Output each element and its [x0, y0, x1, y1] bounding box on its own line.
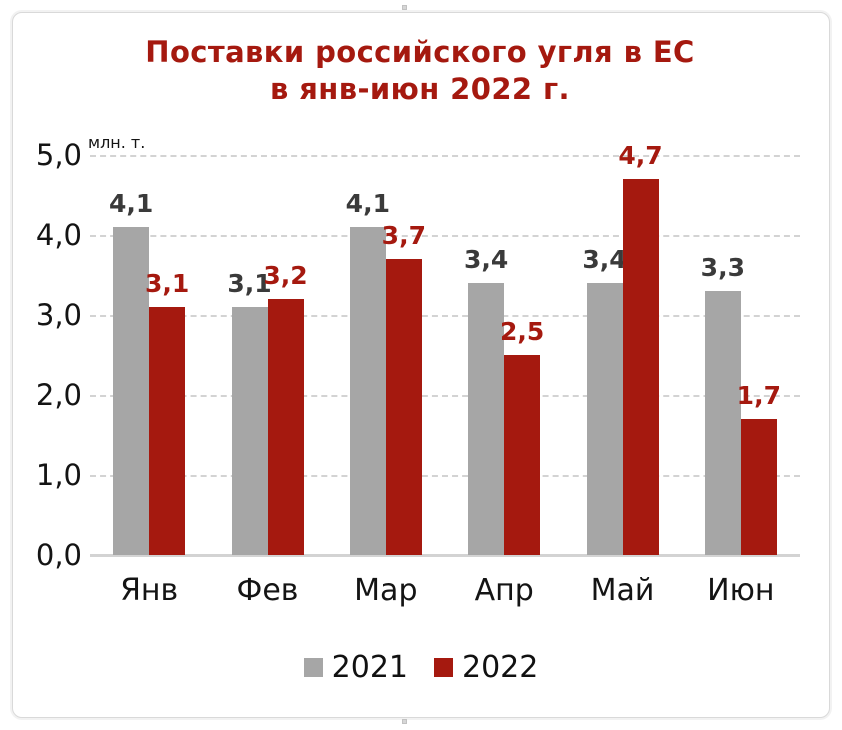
gridline [90, 155, 800, 157]
bar-2021-Июн[interactable] [705, 291, 741, 555]
bar-2021-Фев[interactable] [232, 307, 268, 555]
bar-2022-Апр[interactable] [504, 355, 540, 555]
bar-2022-Май[interactable] [623, 179, 659, 555]
bar-2021-Май[interactable] [587, 283, 623, 555]
bar-value-label-2021-Июн: 3,3 [701, 253, 745, 282]
bar-2021-Мар[interactable] [350, 227, 386, 555]
legend-item-2022[interactable]: 2022 [434, 650, 538, 685]
gridline [90, 235, 800, 237]
bar-value-label-2022-Янв: 3,1 [145, 269, 189, 298]
legend-label-2021: 2021 [332, 650, 408, 685]
axis-baseline [90, 554, 800, 557]
bar-2021-Янв[interactable] [113, 227, 149, 555]
bar-2021-Апр[interactable] [468, 283, 504, 555]
chart-legend: 20212022 [0, 650, 842, 685]
x-axis-label-Май: Май [591, 573, 655, 608]
plot-area: 0,01,02,03,04,05,0 млн. т. 4,13,13,13,24… [0, 0, 842, 730]
bar-2022-Мар[interactable] [386, 259, 422, 555]
bar-value-label-2022-Июн: 1,7 [737, 381, 781, 410]
y-axis-tick-2,0: 2,0 [18, 378, 82, 412]
bar-value-label-2022-Апр: 2,5 [500, 317, 544, 346]
bar-value-label-2021-Апр: 3,4 [464, 245, 508, 274]
gridline [90, 315, 800, 317]
x-axis-label-Фев: Фев [237, 573, 299, 608]
y-axis-tick-4,0: 4,0 [18, 218, 82, 252]
bar-value-label-2021-Мар: 4,1 [346, 189, 390, 218]
gridline [90, 395, 800, 397]
y-axis-tick-3,0: 3,0 [18, 298, 82, 332]
y-axis-unit-label: млн. т. [88, 133, 145, 152]
bar-value-label-2021-Янв: 4,1 [109, 189, 153, 218]
x-axis-label-Мар: Мар [354, 573, 417, 608]
bar-2022-Июн[interactable] [741, 419, 777, 555]
bar-value-label-2021-Май: 3,4 [582, 245, 626, 274]
y-axis-tick-5,0: 5,0 [18, 138, 82, 172]
bar-value-label-2022-Май: 4,7 [618, 141, 662, 170]
bar-value-label-2022-Фев: 3,2 [263, 261, 307, 290]
bar-2022-Фев[interactable] [268, 299, 304, 555]
y-axis-tick-1,0: 1,0 [18, 458, 82, 492]
legend-item-2021[interactable]: 2021 [304, 650, 408, 685]
x-axis-label-Июн: Июн [707, 573, 774, 608]
legend-label-2022: 2022 [462, 650, 538, 685]
bar-value-label-2022-Мар: 3,7 [382, 221, 426, 250]
bar-2022-Янв[interactable] [149, 307, 185, 555]
x-axis-label-Апр: Апр [475, 573, 534, 608]
gridline [90, 475, 800, 477]
y-axis-tick-0,0: 0,0 [18, 538, 82, 572]
legend-swatch-icon-2021 [304, 658, 323, 677]
legend-swatch-icon-2022 [434, 658, 453, 677]
x-axis-label-Янв: Янв [120, 573, 178, 608]
